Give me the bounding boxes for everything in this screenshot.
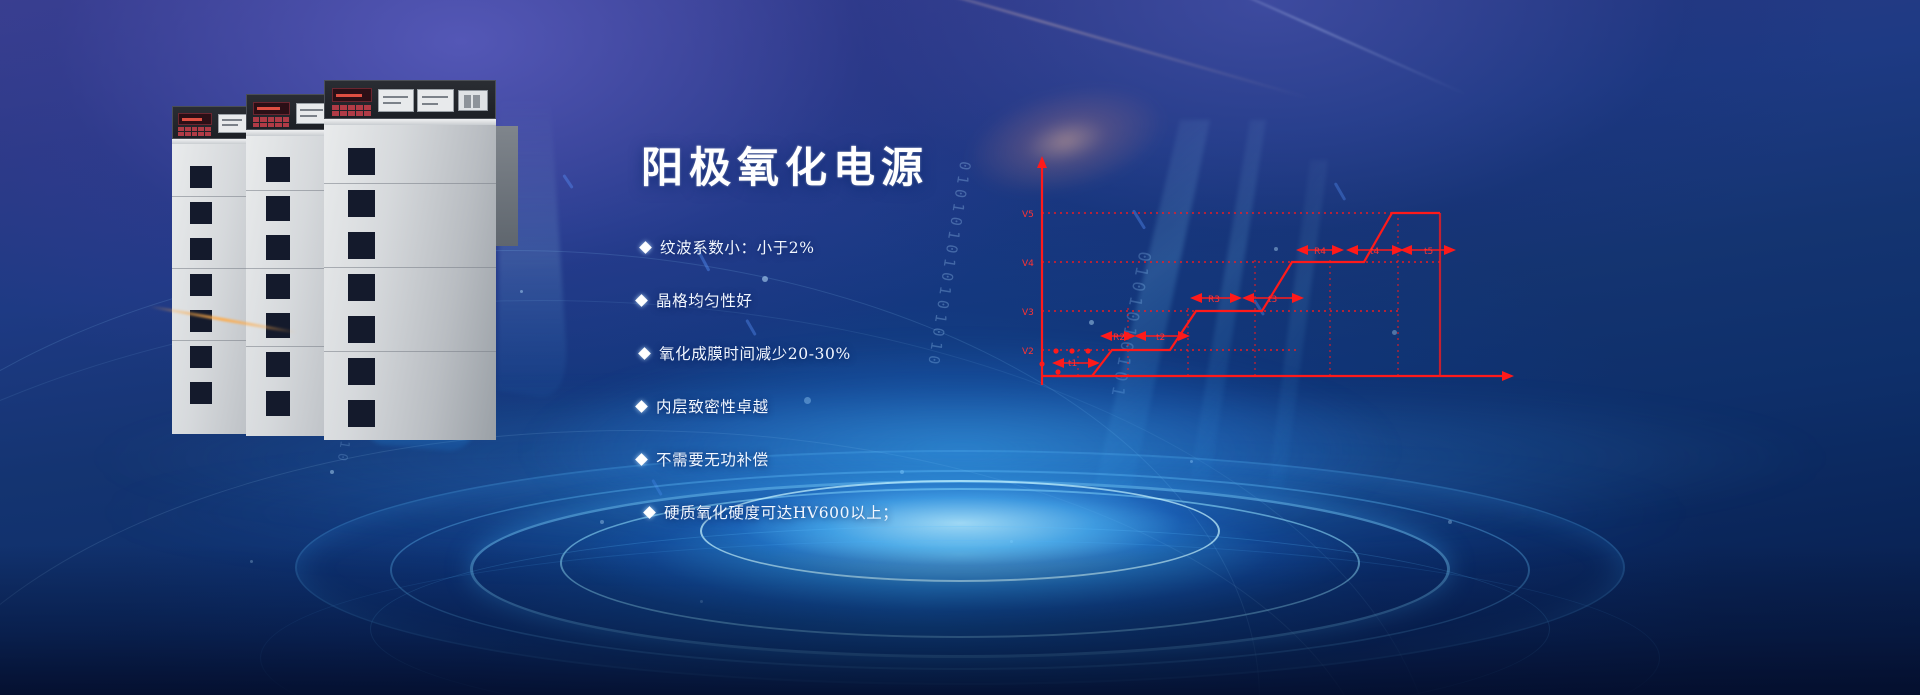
diamond-bullet-icon: [639, 241, 652, 254]
diamond-bullet-icon: [635, 400, 648, 413]
cabinet-keypad-icon: [332, 105, 371, 116]
cabinet-display-icon: [178, 113, 212, 125]
cabinet-vent: [266, 352, 290, 377]
cabinet-vent: [266, 235, 290, 260]
feature-text: 硬质氧化硬度可达HV600以上；: [664, 501, 898, 523]
cabinet-seam: [324, 267, 496, 268]
list-item: 纹波系数小：小于2%: [641, 236, 1061, 258]
cabinet-vent: [266, 391, 290, 416]
list-item: 硬质氧化硬度可达HV600以上；: [645, 501, 1061, 523]
list-item: 氧化成膜时间减少20-30%: [640, 342, 1061, 364]
cabinet-vent: [348, 148, 375, 175]
cabinet-vent: [348, 316, 375, 343]
data-marker: [1039, 361, 1044, 366]
diamond-bullet-icon: [643, 506, 656, 519]
ramp-label: R3: [1208, 295, 1220, 305]
list-item: 晶格均匀性好: [637, 289, 1061, 311]
cabinet-keypad-icon: [253, 117, 289, 127]
list-item: 不需要无功补偿: [637, 448, 1061, 470]
cabinet-seam: [324, 351, 496, 352]
cabinet-vent: [348, 274, 375, 301]
banner-stage: 01010101010101 010101010101010 010101010…: [0, 0, 1920, 695]
cabinet-vent: [190, 382, 212, 404]
voltage-ramp-svg: V5 V4 V3 V2 t1 R2 t2 R3 t3 R4 t4 t5: [1000, 150, 1520, 400]
cabinet-display-icon: [253, 102, 290, 115]
diamond-bullet-icon: [635, 453, 648, 466]
particle: [330, 470, 334, 474]
ramp-label: R2: [1113, 333, 1125, 343]
data-marker: [1069, 348, 1074, 353]
cabinet-vent: [348, 232, 375, 259]
cabinet-vent: [348, 358, 375, 385]
flare-streak-secondary-icon: [1164, 0, 1466, 95]
feature-text: 氧化成膜时间减少20-30%: [659, 342, 851, 364]
interval-label: t2: [1156, 333, 1165, 343]
cabinet-vent: [190, 346, 212, 368]
x-axis-arrow-icon: [1502, 371, 1514, 381]
streak-particle: [562, 174, 573, 189]
feature-text: 不需要无功补偿: [656, 448, 769, 470]
cabinet-vent: [190, 166, 212, 188]
cabinet-vent: [348, 190, 375, 217]
axis-tick-label: V4: [1022, 259, 1034, 269]
cabinet-vent: [190, 238, 212, 260]
interval-label: t3: [1268, 295, 1277, 305]
feature-text: 纹波系数小：小于2%: [660, 236, 815, 258]
data-marker: [1055, 369, 1060, 374]
feature-text: 内层致密性卓越: [656, 395, 769, 417]
cabinet-label-plate: [218, 114, 248, 133]
staircase-waveform: [1052, 213, 1440, 376]
axis-tick-label: V2: [1022, 347, 1034, 357]
cabinet-vent: [266, 196, 290, 221]
interval-label: t4: [1370, 247, 1380, 257]
axis-tick-label: V5: [1022, 210, 1034, 220]
cabinet-vent: [266, 157, 290, 182]
flare-streak-icon: [771, 0, 1310, 99]
cabinet-seam: [324, 183, 496, 184]
cabinet-label-plate: [378, 89, 414, 112]
page-title: 阳极氧化电源: [641, 144, 929, 193]
particle: [700, 600, 703, 603]
voltage-ramp-diagram: V5 V4 V3 V2 t1 R2 t2 R3 t3 R4 t4 t5: [1000, 150, 1520, 400]
axis-tick-label: V3: [1022, 308, 1034, 318]
particle: [250, 560, 253, 563]
cabinet-vent: [266, 274, 290, 299]
y-axis-arrow-icon: [1037, 156, 1047, 168]
particle: [520, 290, 523, 293]
interval-label: t5: [1424, 247, 1433, 257]
cabinet-keypad-icon: [178, 127, 211, 136]
cabinet-vent: [190, 202, 212, 224]
cabinet-meter-icon: [458, 90, 488, 111]
ramp-label: R4: [1314, 247, 1326, 257]
cabinet-vent: [190, 274, 212, 296]
feature-list: 纹波系数小：小于2% 晶格均匀性好 氧化成膜时间减少20-30% 内层致密性卓越…: [641, 236, 1061, 554]
cabinet-side-panel: [496, 126, 518, 246]
cabinet-display-icon: [332, 88, 372, 102]
list-item: 内层致密性卓越: [637, 395, 1061, 417]
data-marker: [1053, 348, 1058, 353]
data-marker: [1085, 348, 1090, 353]
equipment-cabinets: [168, 80, 478, 390]
cabinet-vent: [348, 400, 375, 427]
diamond-bullet-icon: [635, 294, 648, 307]
feature-text: 晶格均匀性好: [656, 289, 753, 311]
diamond-bullet-icon: [638, 347, 651, 360]
interval-label: t1: [1068, 359, 1077, 369]
cabinet-label-plate: [417, 89, 454, 112]
